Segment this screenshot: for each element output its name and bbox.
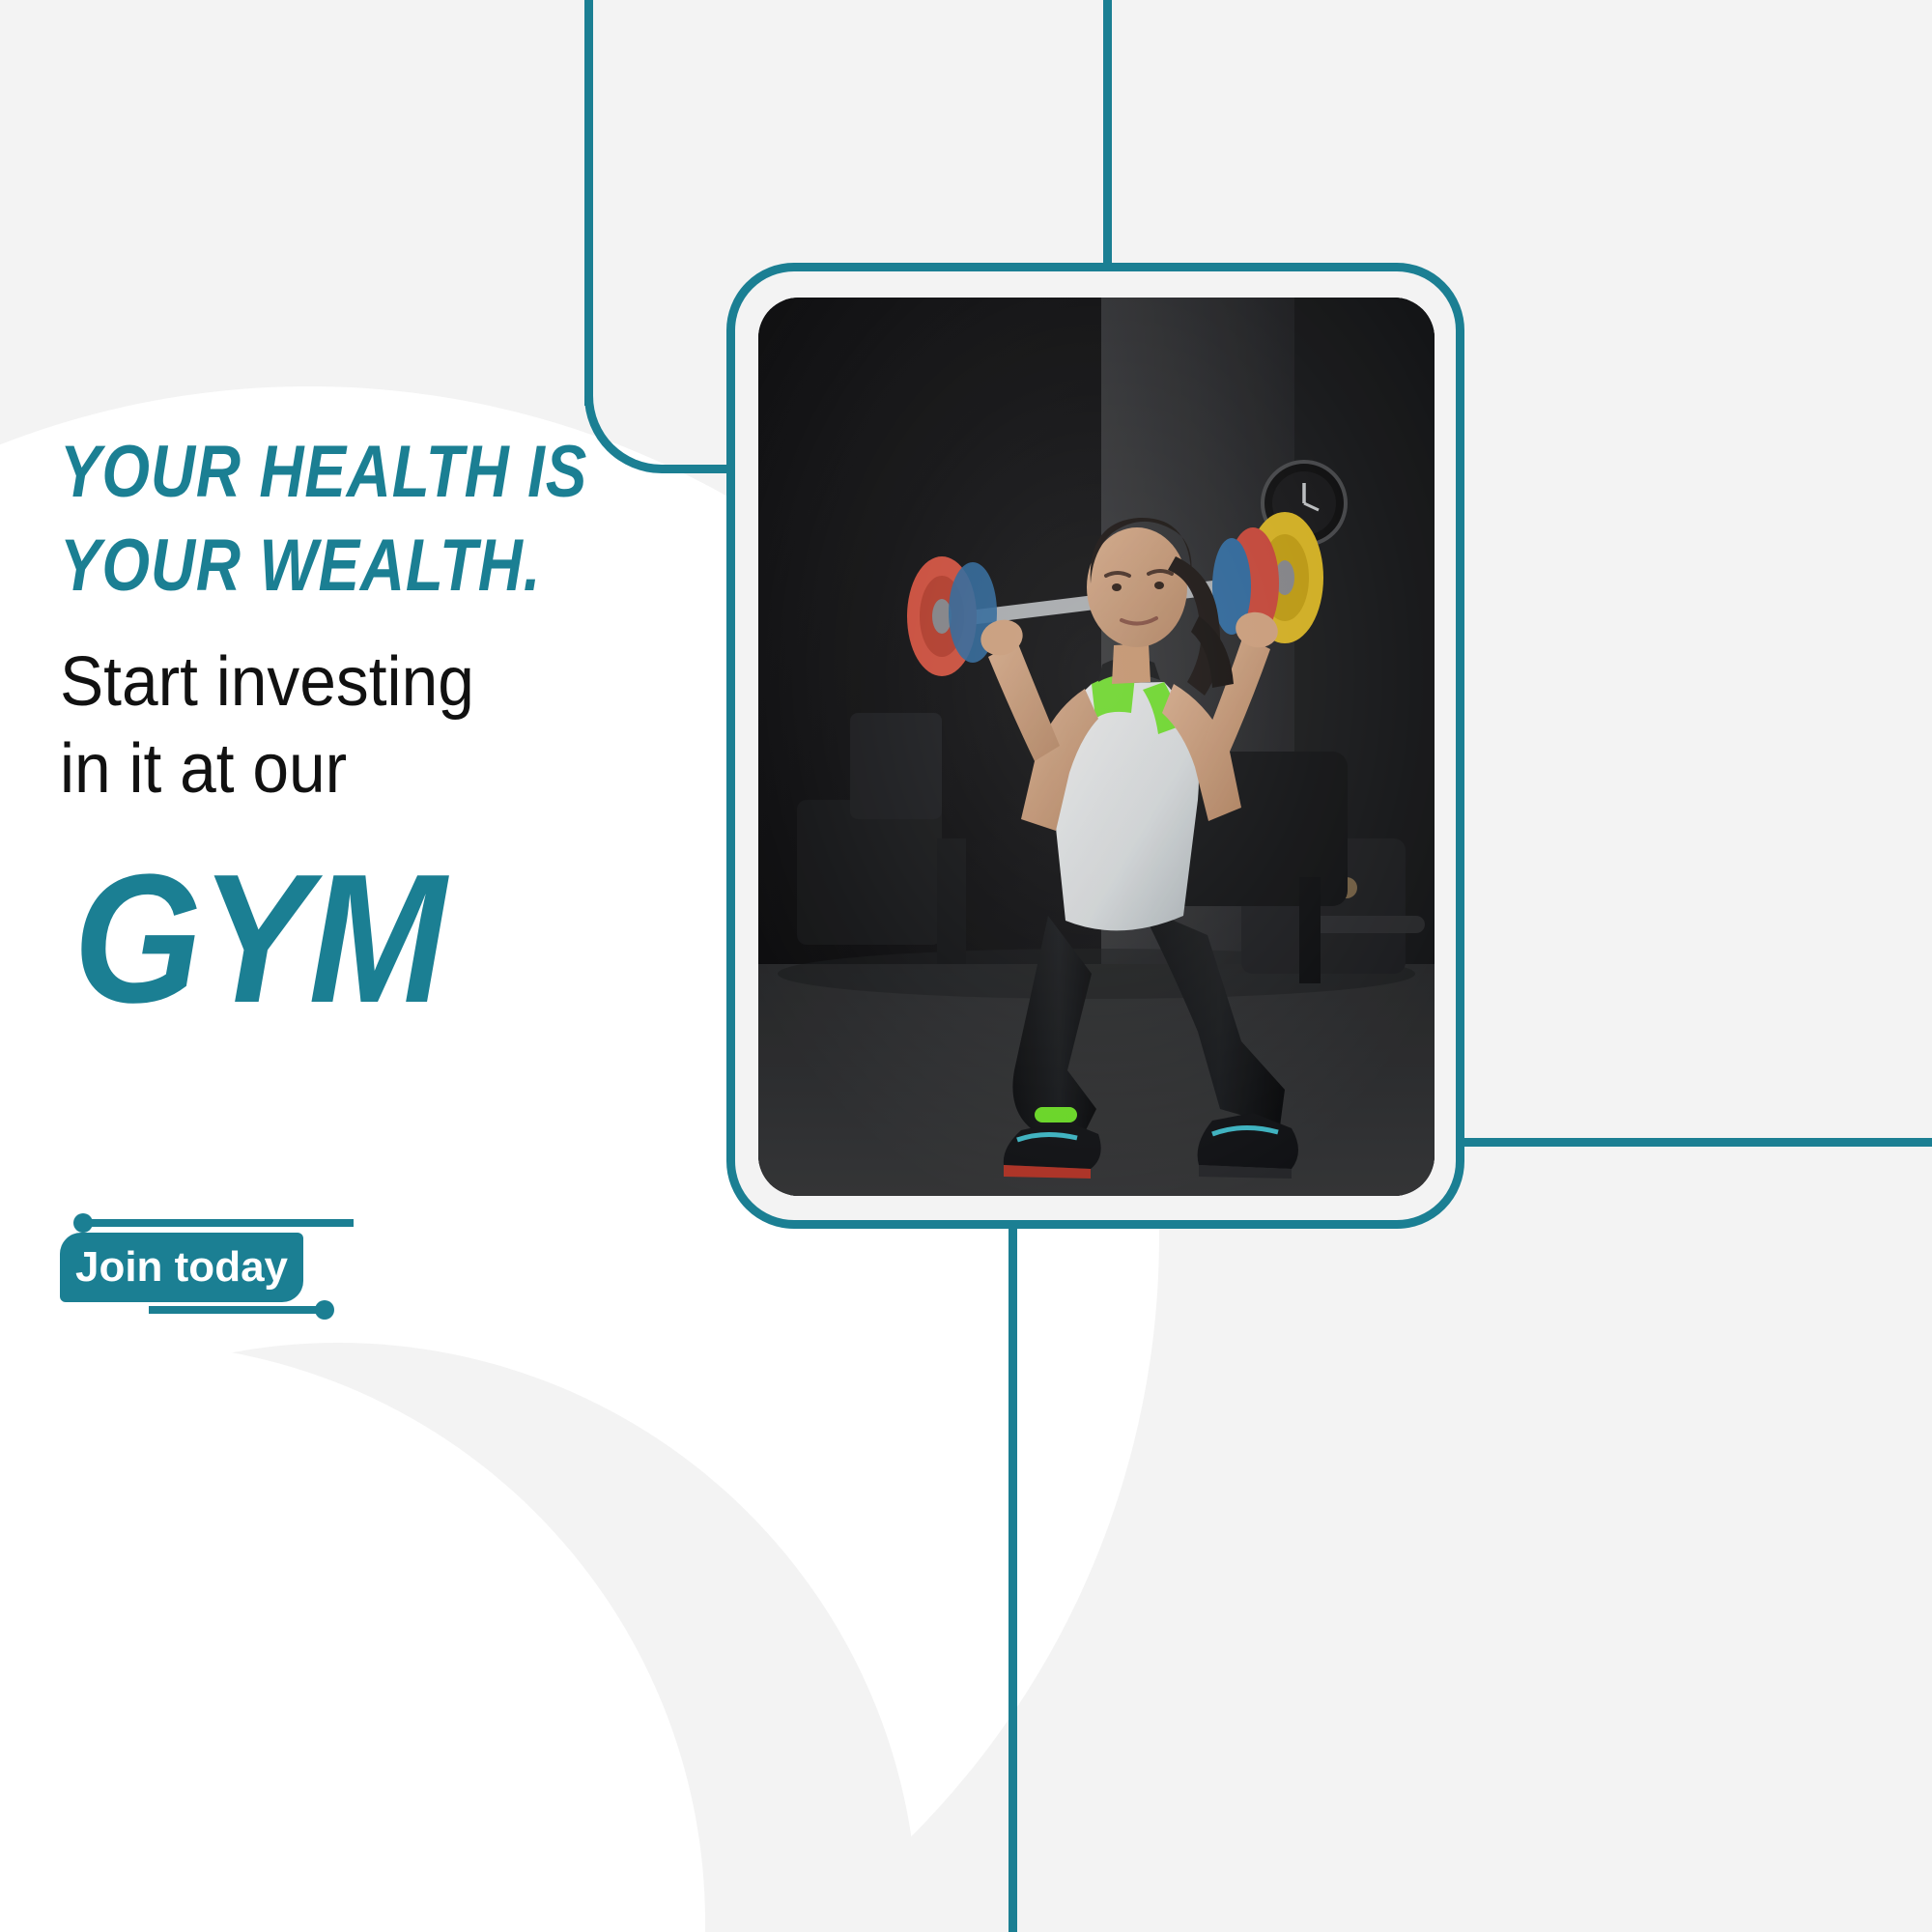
headline-line-2: YOUR WEALTH. — [60, 519, 514, 612]
decor-vertical-line-bottom — [1009, 1212, 1017, 1932]
subhead-line-1: Start investing — [60, 639, 568, 725]
subhead-line-2: in it at our — [60, 725, 568, 812]
decor-vertical-line-left — [584, 0, 593, 406]
copy-column: YOUR HEALTH IS YOUR WEALTH. Start invest… — [60, 425, 601, 1031]
cta-line-top — [85, 1219, 354, 1227]
cta-dot-bottom-icon — [315, 1300, 334, 1320]
gym-wordmark: GYM — [73, 847, 548, 1031]
decor-vertical-line-top — [1103, 0, 1112, 270]
hero-photo — [758, 298, 1435, 1196]
cta-block: Join today — [60, 1209, 379, 1321]
poster-canvas: YOUR HEALTH IS YOUR WEALTH. Start invest… — [0, 0, 1932, 1932]
decor-horizontal-line-right — [1449, 1138, 1932, 1147]
gym-photo-illustration — [758, 298, 1435, 1196]
cta-line-bottom — [149, 1306, 323, 1314]
join-today-button[interactable]: Join today — [60, 1233, 303, 1302]
headline-line-1: YOUR HEALTH IS — [60, 425, 514, 519]
